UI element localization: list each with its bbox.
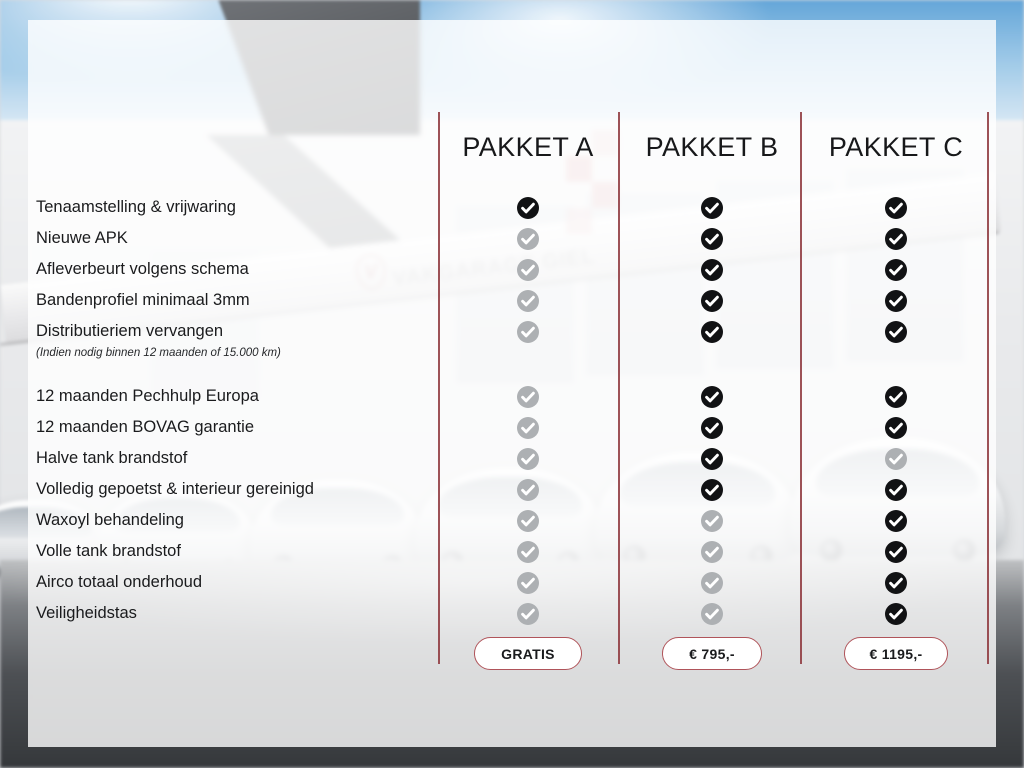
price-badge-pakket-c[interactable]: € 1195,- xyxy=(844,637,948,670)
checkmark-note-spacer xyxy=(876,343,916,363)
checkmark-cell xyxy=(692,598,732,629)
feature-label: Volle tank brandstof xyxy=(36,542,181,560)
feature-row: Volle tank brandstof xyxy=(36,536,436,567)
check-circle-icon xyxy=(517,417,539,439)
checkmark-cell xyxy=(508,285,548,316)
column-header-pakket-b: PAKKET B xyxy=(612,132,812,163)
check-circle-icon xyxy=(885,603,907,625)
checkmark-cell xyxy=(692,254,732,285)
checkmark-cell xyxy=(692,192,732,223)
feature-row: Airco totaal onderhoud xyxy=(36,567,436,598)
checkmark-cell xyxy=(508,254,548,285)
feature-row: Waxoyl behandeling xyxy=(36,505,436,536)
feature-row: Bandenprofiel minimaal 3mm xyxy=(36,285,436,316)
checkmark-cell xyxy=(508,443,548,474)
checkmark-cell xyxy=(508,505,548,536)
group-separator xyxy=(36,363,436,381)
checkmark-cell xyxy=(508,192,548,223)
check-circle-icon xyxy=(885,321,907,343)
check-circle-icon xyxy=(701,572,723,594)
checkmark-group-spacer xyxy=(508,363,548,381)
check-circle-icon xyxy=(885,259,907,281)
check-circle-icon xyxy=(885,448,907,470)
feature-label: Volledig gepoetst & interieur gereinigd xyxy=(36,480,314,498)
column-header-pakket-c: PAKKET C xyxy=(796,132,996,163)
checkmark-column-pakket-c xyxy=(876,192,916,629)
check-circle-icon xyxy=(517,448,539,470)
check-circle-icon xyxy=(701,197,723,219)
checkmark-cell xyxy=(876,474,916,505)
checkmark-cell xyxy=(876,567,916,598)
content-panel: PAKKET A PAKKET B PAKKET C Tenaamstellin… xyxy=(28,20,996,747)
check-circle-icon xyxy=(885,386,907,408)
check-circle-icon xyxy=(517,228,539,250)
check-circle-icon xyxy=(517,479,539,501)
checkmark-cell xyxy=(692,505,732,536)
checkmark-cell xyxy=(692,443,732,474)
checkmark-cell xyxy=(876,285,916,316)
feature-label: 12 maanden Pechhulp Europa xyxy=(36,387,259,405)
feature-label: Afleverbeurt volgens schema xyxy=(36,260,249,278)
package-comparison-table: PAKKET A PAKKET B PAKKET C Tenaamstellin… xyxy=(28,20,996,747)
feature-label: Nieuwe APK xyxy=(36,229,128,247)
check-circle-icon xyxy=(701,290,723,312)
feature-label: Bandenprofiel minimaal 3mm xyxy=(36,291,250,309)
check-circle-icon xyxy=(701,510,723,532)
feature-label: Waxoyl behandeling xyxy=(36,511,184,529)
check-circle-icon xyxy=(701,321,723,343)
feature-label: Distributieriem vervangen xyxy=(36,322,223,340)
checkmark-cell xyxy=(876,254,916,285)
checkmark-cell xyxy=(876,192,916,223)
feature-row: Volledig gepoetst & interieur gereinigd xyxy=(36,474,436,505)
check-circle-icon xyxy=(701,386,723,408)
feature-row: 12 maanden BOVAG garantie xyxy=(36,412,436,443)
checkmark-cell xyxy=(876,223,916,254)
checkmark-cell xyxy=(508,536,548,567)
feature-label: Veiligheidstas xyxy=(36,604,137,622)
checkmark-cell xyxy=(876,505,916,536)
checkmark-cell xyxy=(692,223,732,254)
slide-stage: V VAKGARAGE GIEL xyxy=(0,0,1024,768)
feature-label: Tenaamstelling & vrijwaring xyxy=(36,198,236,216)
check-circle-icon xyxy=(885,290,907,312)
check-circle-icon xyxy=(701,603,723,625)
check-circle-icon xyxy=(885,417,907,439)
checkmark-cell xyxy=(876,381,916,412)
checkmark-cell xyxy=(508,223,548,254)
checkmark-group-spacer xyxy=(876,363,916,381)
check-circle-icon xyxy=(701,541,723,563)
feature-label-list: Tenaamstelling & vrijwaring Nieuwe APK A… xyxy=(36,192,436,629)
feature-row: Nieuwe APK xyxy=(36,223,436,254)
checkmark-cell xyxy=(876,598,916,629)
check-circle-icon xyxy=(517,321,539,343)
checkmark-cell xyxy=(692,536,732,567)
checkmark-cell xyxy=(508,381,548,412)
feature-label: Halve tank brandstof xyxy=(36,449,187,467)
column-divider-3 xyxy=(800,112,802,664)
check-circle-icon xyxy=(701,228,723,250)
feature-label: 12 maanden BOVAG garantie xyxy=(36,418,254,436)
feature-row: Veiligheidstas xyxy=(36,598,436,629)
column-header-pakket-a: PAKKET A xyxy=(428,132,628,163)
check-circle-icon xyxy=(701,448,723,470)
feature-row: Tenaamstelling & vrijwaring xyxy=(36,192,436,223)
check-circle-icon xyxy=(701,417,723,439)
checkmark-cell xyxy=(692,474,732,505)
checkmark-cell xyxy=(692,381,732,412)
checkmark-cell xyxy=(692,285,732,316)
column-divider-2 xyxy=(618,112,620,664)
checkmark-cell xyxy=(876,412,916,443)
feature-row: 12 maanden Pechhulp Europa xyxy=(36,381,436,412)
check-circle-icon xyxy=(517,259,539,281)
feature-row: Halve tank brandstof xyxy=(36,443,436,474)
check-circle-icon xyxy=(701,479,723,501)
checkmark-cell xyxy=(508,567,548,598)
column-divider-4 xyxy=(987,112,989,664)
check-circle-icon xyxy=(517,197,539,219)
checkmark-column-pakket-b xyxy=(692,192,732,629)
check-circle-icon xyxy=(885,479,907,501)
check-circle-icon xyxy=(885,197,907,219)
check-circle-icon xyxy=(517,386,539,408)
check-circle-icon xyxy=(701,259,723,281)
checkmark-cell xyxy=(876,536,916,567)
checkmark-cell xyxy=(508,412,548,443)
check-circle-icon xyxy=(885,572,907,594)
check-circle-icon xyxy=(885,228,907,250)
checkmark-group-spacer xyxy=(692,363,732,381)
checkmark-cell xyxy=(692,567,732,598)
check-circle-icon xyxy=(517,603,539,625)
price-badge-pakket-b[interactable]: € 795,- xyxy=(662,637,762,670)
check-circle-icon xyxy=(517,290,539,312)
check-circle-icon xyxy=(517,541,539,563)
checkmark-note-spacer xyxy=(692,343,732,363)
checkmark-column-pakket-a xyxy=(508,192,548,629)
check-circle-icon xyxy=(885,541,907,563)
column-divider-1 xyxy=(438,112,440,664)
check-circle-icon xyxy=(885,510,907,532)
feature-note: (Indien nodig binnen 12 maanden of 15.00… xyxy=(36,343,436,363)
checkmark-cell xyxy=(692,412,732,443)
check-circle-icon xyxy=(517,510,539,532)
feature-row: Afleverbeurt volgens schema xyxy=(36,254,436,285)
checkmark-cell xyxy=(508,474,548,505)
checkmark-cell xyxy=(876,443,916,474)
checkmark-cell xyxy=(508,598,548,629)
check-circle-icon xyxy=(517,572,539,594)
feature-label: Airco totaal onderhoud xyxy=(36,573,202,591)
price-badge-pakket-a[interactable]: GRATIS xyxy=(474,637,582,670)
checkmark-note-spacer xyxy=(508,343,548,363)
